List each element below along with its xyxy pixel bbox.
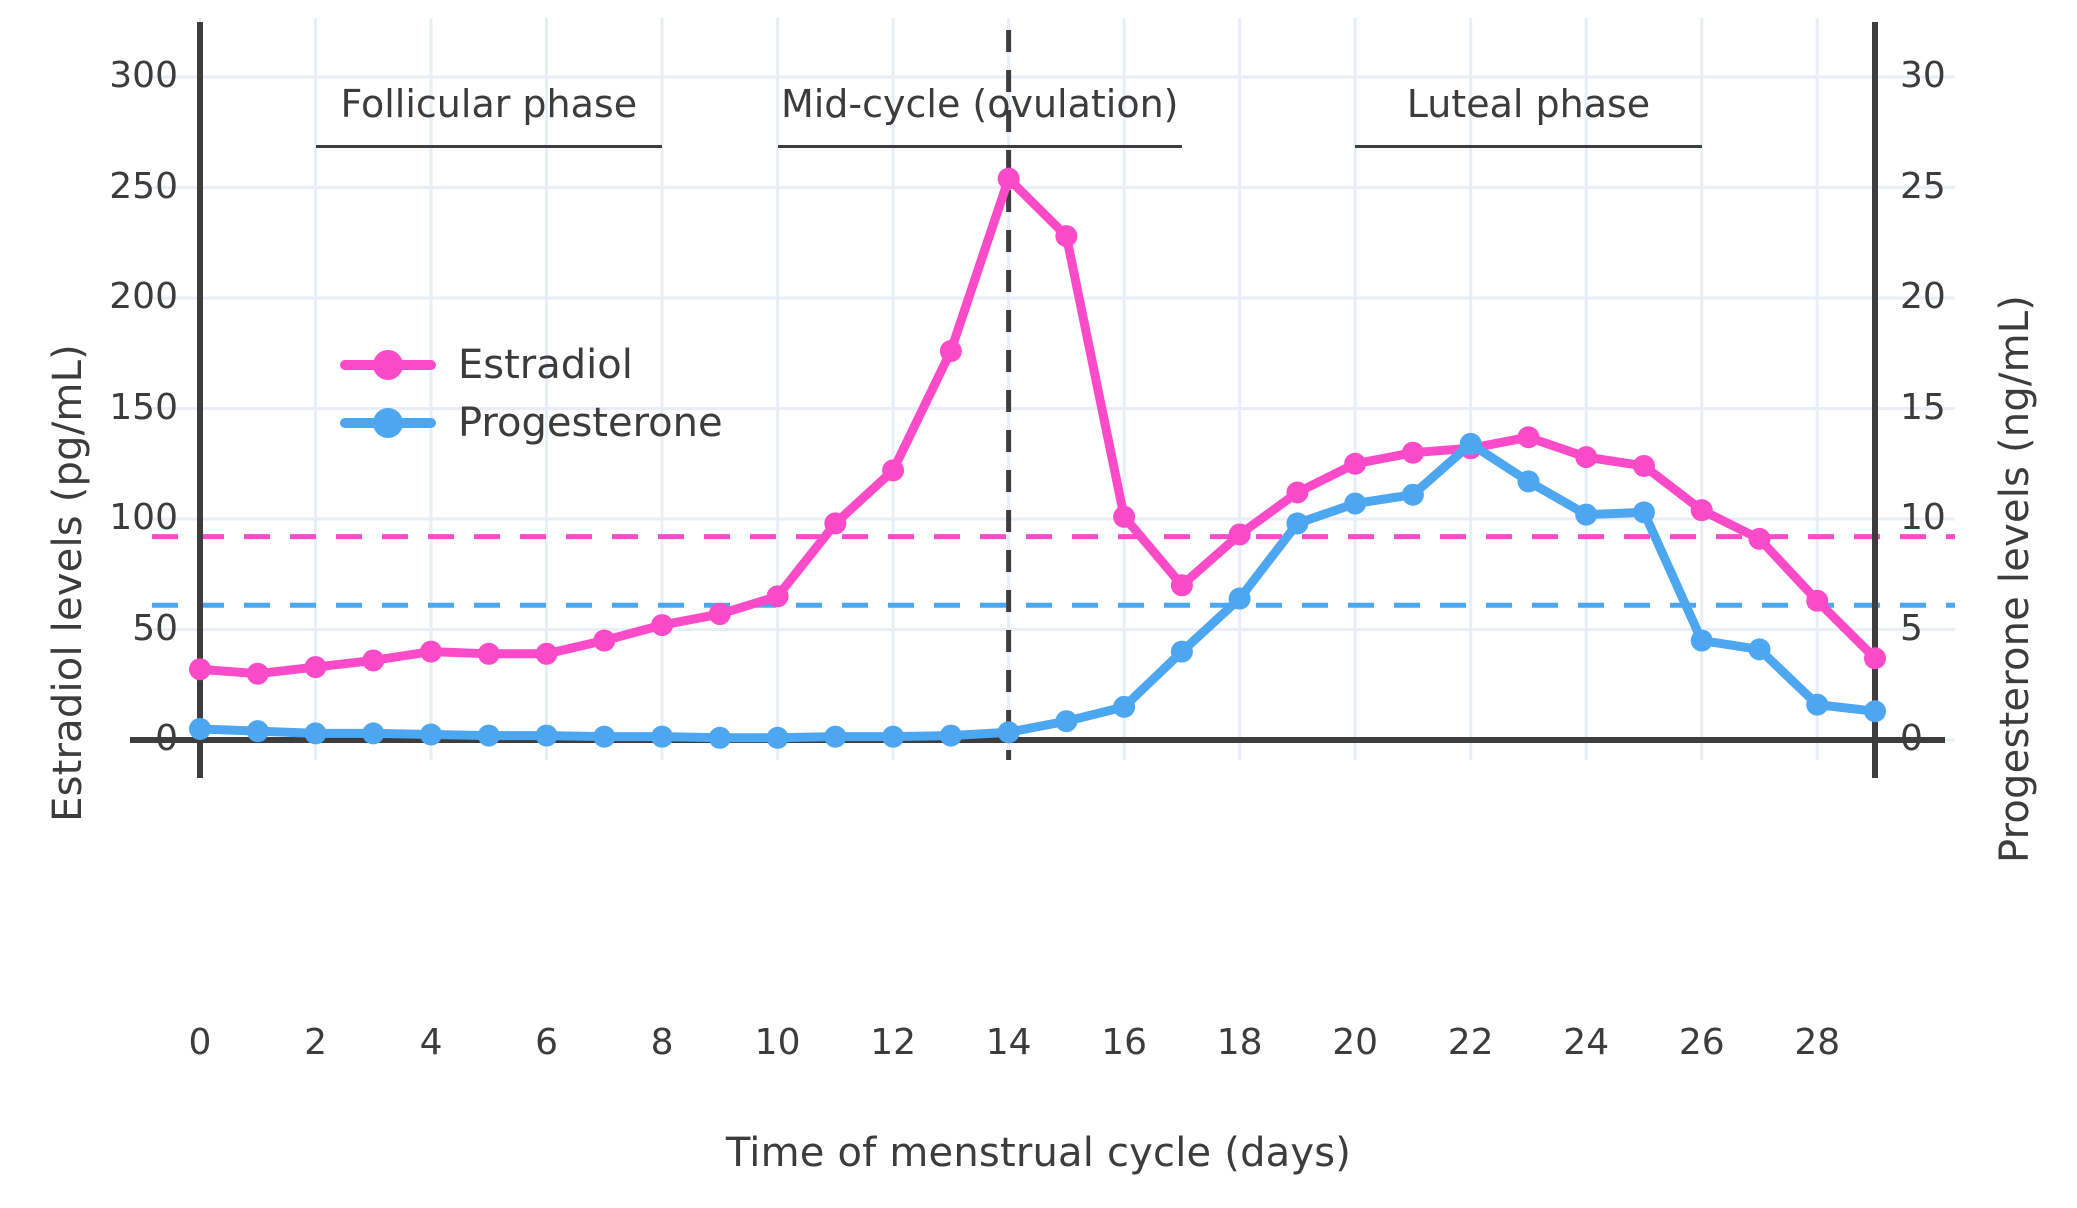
data-point-progesterone-20 [1344, 493, 1366, 515]
x-tick-12: 12 [833, 1022, 953, 1063]
data-point-progesterone-1 [247, 720, 269, 742]
chart-legend: Estradiol Progesterone [340, 336, 723, 452]
data-point-estradiol-28 [1806, 590, 1828, 612]
data-point-estradiol-15 [1055, 225, 1077, 247]
data-point-progesterone-9 [709, 727, 731, 749]
legend-item-estradiol[interactable]: Estradiol [340, 336, 723, 394]
data-point-progesterone-0 [189, 718, 211, 740]
data-point-estradiol-25 [1633, 455, 1655, 477]
data-point-estradiol-8 [651, 614, 673, 636]
data-point-progesterone-24 [1575, 504, 1597, 526]
y-tick-right-10: 10 [1900, 497, 2020, 538]
legend-swatch-estradiol [340, 360, 436, 370]
data-point-progesterone-27 [1748, 638, 1770, 660]
x-tick-0: 0 [140, 1022, 260, 1063]
legend-swatch-progesterone [340, 418, 436, 428]
data-point-progesterone-4 [420, 723, 442, 745]
data-point-progesterone-7 [593, 726, 615, 748]
y-tick-right-5: 5 [1900, 608, 2020, 649]
y-tick-left-100: 100 [58, 497, 178, 538]
data-point-estradiol-3 [362, 649, 384, 671]
y-tick-left-250: 250 [58, 166, 178, 207]
x-axis-title: Time of menstrual cycle (days) [0, 1130, 2077, 1176]
data-point-estradiol-26 [1691, 499, 1713, 521]
data-point-estradiol-7 [593, 630, 615, 652]
legend-item-progesterone[interactable]: Progesterone [340, 394, 723, 452]
data-point-progesterone-26 [1691, 630, 1713, 652]
x-tick-6: 6 [487, 1022, 607, 1063]
data-point-estradiol-18 [1229, 523, 1251, 545]
x-tick-28: 28 [1757, 1022, 1877, 1063]
x-tick-2: 2 [256, 1022, 376, 1063]
data-point-estradiol-13 [940, 340, 962, 362]
data-point-progesterone-13 [940, 725, 962, 747]
x-tick-10: 10 [718, 1022, 838, 1063]
x-tick-26: 26 [1642, 1022, 1762, 1063]
data-point-estradiol-14 [998, 168, 1020, 190]
data-point-estradiol-17 [1171, 574, 1193, 596]
data-point-progesterone-2 [305, 722, 327, 744]
data-point-estradiol-23 [1517, 426, 1539, 448]
data-point-estradiol-19 [1286, 481, 1308, 503]
data-point-progesterone-28 [1806, 694, 1828, 716]
data-point-progesterone-11 [824, 726, 846, 748]
data-point-estradiol-5 [478, 643, 500, 665]
data-point-progesterone-10 [767, 727, 789, 749]
data-point-progesterone-15 [1055, 710, 1077, 732]
data-point-estradiol-6 [536, 643, 558, 665]
x-tick-16: 16 [1064, 1022, 1184, 1063]
data-point-progesterone-3 [362, 722, 384, 744]
data-point-progesterone-23 [1517, 470, 1539, 492]
x-tick-14: 14 [949, 1022, 1069, 1063]
data-point-progesterone-6 [536, 725, 558, 747]
data-point-estradiol-16 [1113, 506, 1135, 528]
phase-rule-mid-cycle [778, 145, 1182, 148]
data-point-estradiol-10 [767, 585, 789, 607]
x-tick-18: 18 [1180, 1022, 1300, 1063]
data-point-progesterone-19 [1286, 512, 1308, 534]
y-tick-right-25: 25 [1900, 166, 2020, 207]
data-point-progesterone-5 [478, 725, 500, 747]
legend-label-progesterone: Progesterone [458, 400, 723, 446]
data-point-progesterone-25 [1633, 501, 1655, 523]
data-point-estradiol-20 [1344, 453, 1366, 475]
x-tick-8: 8 [602, 1022, 722, 1063]
data-point-estradiol-11 [824, 512, 846, 534]
data-point-progesterone-29 [1864, 700, 1886, 722]
data-point-progesterone-18 [1229, 588, 1251, 610]
data-point-estradiol-24 [1575, 446, 1597, 468]
data-point-estradiol-12 [882, 459, 904, 481]
series-line-progesterone [200, 444, 1875, 738]
data-series [189, 168, 1886, 749]
y-tick-left-150: 150 [58, 387, 178, 428]
data-point-estradiol-27 [1748, 528, 1770, 550]
phase-label-luteal-phase: Luteal phase [1028, 82, 2028, 126]
data-point-progesterone-12 [882, 726, 904, 748]
x-tick-20: 20 [1295, 1022, 1415, 1063]
x-tick-24: 24 [1526, 1022, 1646, 1063]
chart-canvas: Estradiol levels (pg/mL) Progesterone le… [0, 0, 2077, 1208]
y-tick-left-200: 200 [58, 276, 178, 317]
y-tick-left-50: 50 [58, 608, 178, 649]
data-point-estradiol-9 [709, 603, 731, 625]
x-tick-4: 4 [371, 1022, 491, 1063]
data-point-estradiol-2 [305, 656, 327, 678]
data-point-progesterone-16 [1113, 696, 1135, 718]
data-point-progesterone-17 [1171, 641, 1193, 663]
data-point-progesterone-8 [651, 726, 673, 748]
data-point-progesterone-21 [1402, 484, 1424, 506]
data-point-progesterone-22 [1460, 433, 1482, 455]
y-tick-right-15: 15 [1900, 387, 2020, 428]
y-tick-right-20: 20 [1900, 276, 2020, 317]
phase-rule-follicular-phase [316, 145, 663, 148]
data-point-estradiol-21 [1402, 442, 1424, 464]
data-point-estradiol-4 [420, 641, 442, 663]
data-point-progesterone-14 [998, 721, 1020, 743]
y-tick-left-0: 0 [58, 718, 178, 759]
phase-rule-luteal-phase [1355, 145, 1702, 148]
x-tick-22: 22 [1411, 1022, 1531, 1063]
legend-label-estradiol: Estradiol [458, 342, 633, 388]
data-point-estradiol-1 [247, 663, 269, 685]
data-point-estradiol-0 [189, 658, 211, 680]
data-point-estradiol-29 [1864, 647, 1886, 669]
y-tick-right-0: 0 [1900, 718, 2020, 759]
